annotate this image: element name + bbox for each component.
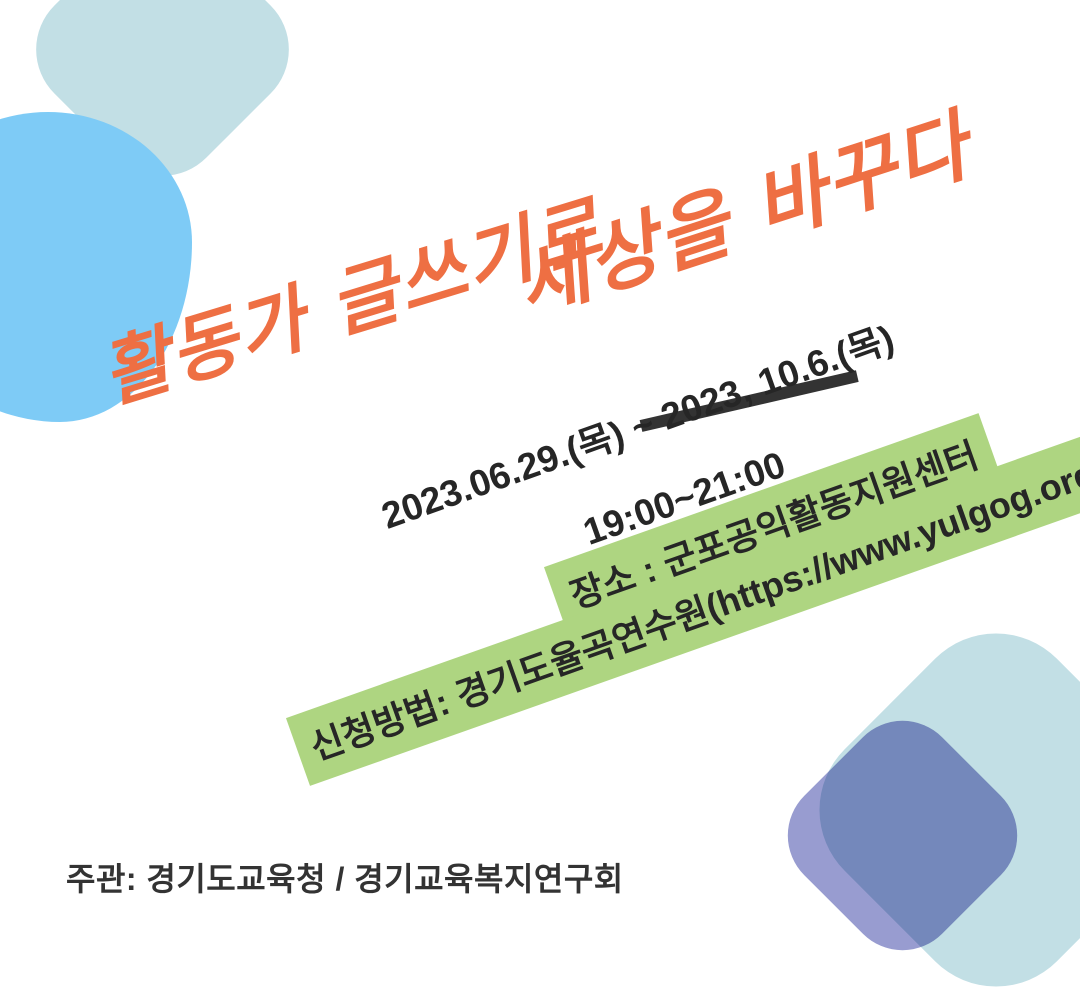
event-host: 주관: 경기도교육청 / 경기교육복지연구회 bbox=[66, 854, 624, 900]
event-details: 2023.06.29.(목) ~ 2023, 10.6.(목) 19:00~21… bbox=[0, 0, 1080, 999]
event-poster: 활동가 글쓰기로 세상을 바꾸다 2023.06.29.(목) ~ 2023, … bbox=[0, 0, 1080, 999]
